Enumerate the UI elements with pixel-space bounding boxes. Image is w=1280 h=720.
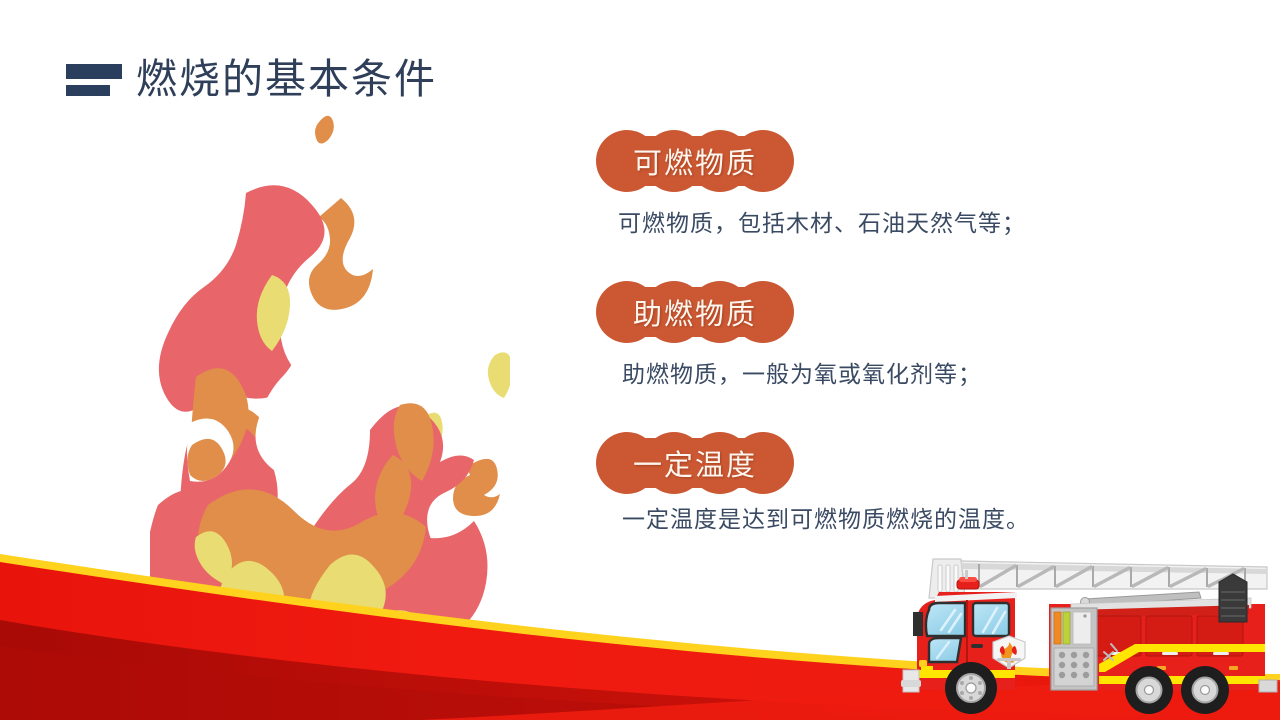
truck-door-window xyxy=(929,638,961,662)
conditions-list: 可燃物质 可燃物质，包括木材、石油天然气等； 助燃物质 助燃物质，一般为氧或氧化… xyxy=(596,130,1196,535)
title-marker-bar-bottom xyxy=(66,85,110,96)
slide-canvas: 燃烧的基本条件 xyxy=(0,0,1280,720)
page-title: 燃烧的基本条件 xyxy=(66,58,437,100)
status-badge: 一定温度 xyxy=(596,432,794,494)
condition-item: 一定温度 一定温度是达到可燃物质燃烧的温度。 xyxy=(596,432,1196,535)
status-badge: 助燃物质 xyxy=(596,281,794,343)
condition-item: 助燃物质 助燃物质，一般为氧或氧化剂等； xyxy=(596,281,1196,390)
status-badge-label: 一定温度 xyxy=(596,432,794,494)
condition-item: 可燃物质 可燃物质，包括木材、石油天然气等； xyxy=(596,130,1196,239)
status-badge-label: 可燃物质 xyxy=(596,130,794,192)
status-badge: 可燃物质 xyxy=(596,130,794,192)
title-marker-icon xyxy=(66,58,122,100)
condition-description: 可燃物质，包括木材、石油天然气等； xyxy=(618,208,1196,239)
condition-description: 一定温度是达到可燃物质燃烧的温度。 xyxy=(622,504,1196,535)
fire-truck-icon xyxy=(899,552,1280,720)
condition-description: 助燃物质，一般为氧或氧化剂等； xyxy=(622,359,1196,390)
status-badge-label: 助燃物质 xyxy=(596,281,794,343)
ribbon-fold-line xyxy=(0,646,900,720)
truck-windshield xyxy=(926,603,965,636)
flame-icon xyxy=(150,105,510,625)
title-marker-bar-top xyxy=(66,64,122,79)
page-title-text: 燃烧的基本条件 xyxy=(136,59,437,100)
